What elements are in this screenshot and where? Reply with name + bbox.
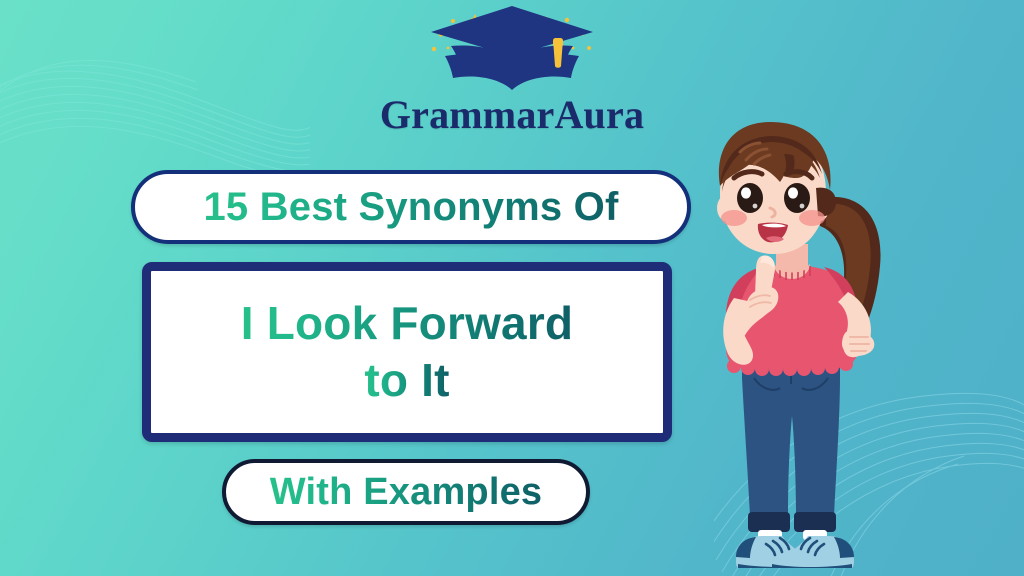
headline-pill-top-text: 15 Best Synonyms Of <box>203 185 618 230</box>
headline-main-line-2: to It <box>364 352 449 410</box>
headline-pill-top: 15 Best Synonyms Of <box>131 170 691 244</box>
headline-main-box: I Look Forward to It <box>142 262 672 442</box>
poster-canvas: GrammarAura 15 Best Synonyms Of I Look F… <box>0 0 1024 576</box>
headline-pill-bottom: With Examples <box>222 459 590 525</box>
thinking-girl-illustration <box>670 116 920 576</box>
graduation-cap-book-logo-icon <box>417 4 607 96</box>
headline-pill-bottom-text: With Examples <box>270 471 543 514</box>
headline-main-line-1: I Look Forward <box>241 295 573 353</box>
